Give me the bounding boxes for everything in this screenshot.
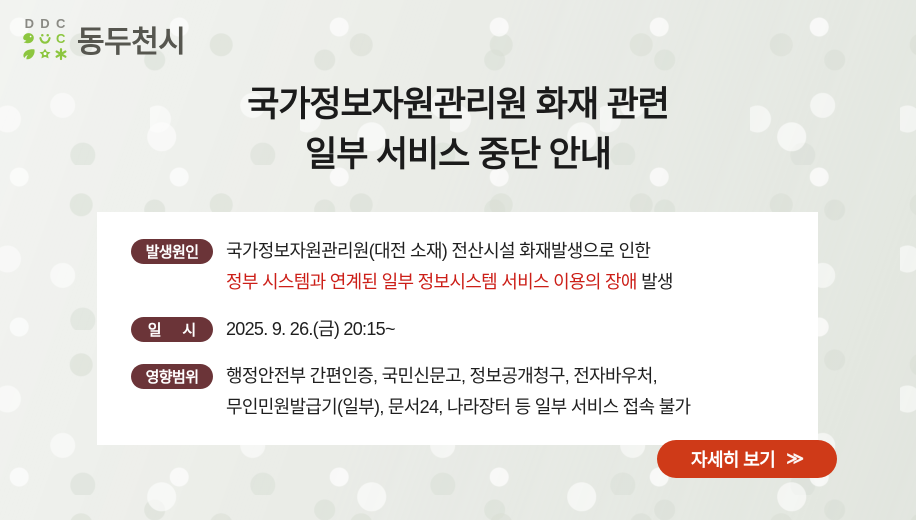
dongducheon-ddc-logo-icon: D D C C (22, 16, 68, 62)
notice-text: 국가정보자원관리원(대전 소재) 전산시설 화재발생으로 인한 (226, 241, 650, 261)
page-title-line-1: 국가정보자원관리원 화재 관련 (0, 80, 916, 130)
view-details-label: 자세히 보기 (691, 446, 775, 472)
notice-rows: 발생원인 국가정보자원관리원(대전 소재) 전산시설 화재발생으로 인한 정부 … (131, 236, 800, 423)
letter-c-gray: C (53, 16, 68, 31)
notice-text-emphasis: 정부 시스템과 연계된 일부 정보시스템 서비스 이용의 장애 (226, 272, 637, 292)
notice-banner: D D C C (0, 0, 916, 520)
view-details-button[interactable]: 자세히 보기 ≫ (657, 440, 837, 478)
notice-row: 일 시 2025. 9. 26.(금) 20:15~ (131, 314, 800, 345)
notice-card: 발생원인 국가정보자원관리원(대전 소재) 전산시설 화재발생으로 인한 정부 … (97, 212, 818, 445)
notice-line: 정부 시스템과 연계된 일부 정보시스템 서비스 이용의 장애 발생 (226, 267, 673, 298)
letter-d-gray: D (22, 16, 37, 31)
notice-line: 국가정보자원관리원(대전 소재) 전산시설 화재발생으로 인한 (226, 236, 673, 267)
notice-row: 영향범위 행정안전부 간편인증, 국민신문고, 정보공개청구, 전자바우처, 무… (131, 361, 800, 423)
site-logo[interactable]: D D C C (22, 16, 185, 62)
asterisk-icon (53, 47, 68, 62)
notice-text: 2025. 9. 26.(금) 20:15~ (226, 319, 395, 339)
notice-text: 행정안전부 간편인증, 국민신문고, 정보공개청구, 전자바우처, (226, 366, 657, 386)
flower-icon (38, 47, 53, 62)
notice-row-body: 행정안전부 간편인증, 국민신문고, 정보공개청구, 전자바우처, 무인민원발급… (226, 361, 690, 423)
double-chevron-right-icon: ≫ (786, 449, 803, 469)
status-badge: 일 시 (131, 317, 213, 342)
notice-line: 2025. 9. 26.(금) 20:15~ (226, 314, 395, 345)
notice-line: 무인민원발급기(일부), 문서24, 나라장터 등 일부 서비스 접속 불가 (226, 392, 690, 423)
letter-d-gray: D (38, 16, 53, 31)
page-title-line-2: 일부 서비스 중단 안내 (0, 130, 916, 180)
leaf-icon (22, 47, 37, 62)
status-badge: 영향범위 (131, 364, 213, 389)
city-name-label: 동두천시 (77, 17, 185, 61)
notice-row: 발생원인 국가정보자원관리원(대전 소재) 전산시설 화재발생으로 인한 정부 … (131, 236, 800, 298)
letter-c-green: C (53, 32, 68, 47)
notice-text: 무인민원발급기(일부), 문서24, 나라장터 등 일부 서비스 접속 불가 (226, 397, 690, 417)
page-title: 국가정보자원관리원 화재 관련 일부 서비스 중단 안내 (0, 80, 916, 179)
bird-icon (22, 32, 37, 47)
smiley-face-icon (38, 32, 53, 47)
notice-row-body: 국가정보자원관리원(대전 소재) 전산시설 화재발생으로 인한 정부 시스템과 … (226, 236, 673, 298)
notice-line: 행정안전부 간편인증, 국민신문고, 정보공개청구, 전자바우처, (226, 361, 690, 392)
status-badge: 발생원인 (131, 239, 213, 264)
notice-row-body: 2025. 9. 26.(금) 20:15~ (226, 314, 395, 345)
notice-text: 발생 (641, 272, 673, 292)
